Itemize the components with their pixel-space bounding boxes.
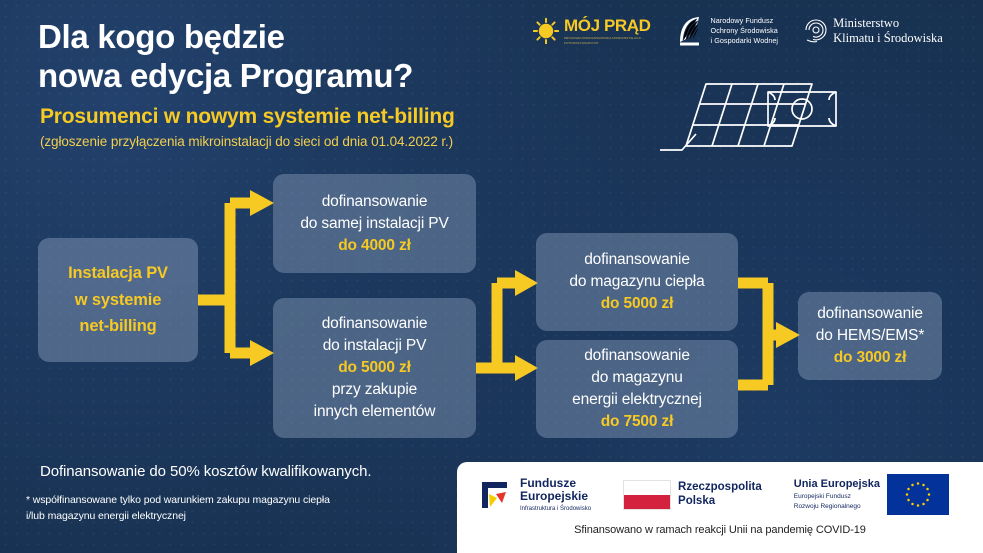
flow-box-line: dofinansowanie: [584, 249, 690, 271]
flow-box-line: do magazynu ciepła: [569, 271, 704, 293]
flow-box-line: do HEMS/EMS*: [816, 325, 924, 347]
note-cofinancing: Dofinansowanie do 50% kosztów kwalifikow…: [40, 463, 371, 480]
flow-box-line: dofinansowanie: [322, 313, 428, 335]
flow-box-line: energii elektrycznej: [572, 389, 702, 411]
fundusze-name: Fundusze Europejskie: [520, 477, 591, 504]
flow-box-heat-storage: dofinansowanie do magazynu ciepła do 500…: [536, 233, 738, 331]
unia-name: Unia Europejska: [794, 478, 880, 491]
nfosigw-emblem-icon: [677, 16, 706, 46]
moj-prad-name: MÓJ PRĄD: [564, 17, 651, 34]
flow-box-amount: do 5000 zł: [338, 357, 411, 379]
eu-funding-footer: Fundusze Europejskie Infrastruktura i Śr…: [457, 462, 983, 553]
flow-box-amount: do 7500 zł: [601, 411, 674, 433]
flow-box-amount: do 3000 zł: [834, 347, 907, 369]
flow-box-line: do instalacji PV: [323, 335, 427, 357]
flow-box-pv-with-others: dofinansowanie do instalacji PV do 5000 …: [273, 298, 476, 438]
moj-prad-tagline: PROGRAM DOFINANSOWANIA MIKROINSTALACJI F…: [564, 36, 651, 45]
unia-sub: Europejski Fundusz Rozwoju Regionalnego: [794, 492, 880, 511]
logo-nfosigw: Narodowy Fundusz Ochrony Środowiska i Go…: [677, 16, 779, 46]
nfosigw-name: Narodowy Fundusz Ochrony Środowiska i Go…: [711, 16, 779, 46]
flow-box-line: dofinansowanie: [322, 191, 428, 213]
flow-box-hems-ems: dofinansowanie do HEMS/EMS* do 3000 zł: [798, 292, 942, 380]
flow-box-line: dofinansowanie: [584, 345, 690, 367]
footer-caption: Sfinansowano w ramach reakcji Unii na pa…: [457, 524, 983, 536]
logo-fundusze-europejskie: Fundusze Europejskie Infrastruktura i Śr…: [479, 477, 591, 513]
logo-moj-prad: MÓJ PRĄD PROGRAM DOFINANSOWANIA MIKROINS…: [533, 17, 651, 45]
page-title: Dla kogo będzie nowa edycja Programu?: [38, 18, 413, 95]
fundusze-sub: Infrastruktura i Środowisko: [520, 506, 591, 513]
note-footnote: * współfinansowane tylko pod warunkiem z…: [26, 492, 330, 525]
infographic-page: Dla kogo będzie nowa edycja Programu? Pr…: [0, 0, 983, 553]
partner-logos: MÓJ PRĄD PROGRAM DOFINANSOWANIA MIKROINS…: [533, 16, 943, 46]
flow-box-line: przy zakupie: [332, 379, 417, 401]
flow-box-line: do samej instalacji PV: [300, 213, 448, 235]
flow-box-amount: do 4000 zł: [338, 235, 411, 257]
flow-box-electricity-storage: dofinansowanie do magazynu energii elekt…: [536, 340, 738, 438]
page-subtitle: Prosumenci w nowym systemie net-billing: [40, 105, 455, 129]
logo-unia-europejska: Unia Europejska Europejski Fundusz Rozwo…: [794, 474, 949, 515]
flow-box-amount: do 5000 zł: [601, 293, 674, 315]
flow-box-start: Instalacja PV w systemie net-billing: [38, 238, 198, 362]
logo-rzeczpospolita-polska: Rzeczpospolita Polska: [623, 480, 762, 510]
ministry-emblem-icon: [804, 18, 828, 44]
rzeczpospolita-name: Rzeczpospolita Polska: [678, 481, 762, 508]
flow-box-line: do magazynu: [591, 367, 682, 389]
page-subnote: (zgłoszenie przyłączenia mikroinstalacji…: [40, 134, 453, 149]
fundusze-europejskie-icon: [479, 478, 513, 512]
logo-ministerstwo: Ministerstwo Klimatu i Środowiska: [804, 16, 943, 46]
ministerstwo-name: Ministerstwo Klimatu i Środowiska: [833, 16, 943, 46]
flow-box-line: innych elementów: [314, 401, 436, 423]
eu-flag-icon: [887, 474, 949, 515]
flow-box-pv-only: dofinansowanie do samej instalacji PV do…: [273, 174, 476, 273]
eu-funding-logos: Fundusze Europejskie Infrastruktura i Śr…: [479, 474, 949, 515]
sun-icon: [533, 18, 559, 44]
flow-box-start-label: Instalacja PV w systemie net-billing: [68, 260, 168, 340]
poland-flag-icon: [623, 480, 671, 510]
flow-box-line: dofinansowanie: [817, 303, 923, 325]
solar-panel-money-icon: [660, 78, 870, 178]
